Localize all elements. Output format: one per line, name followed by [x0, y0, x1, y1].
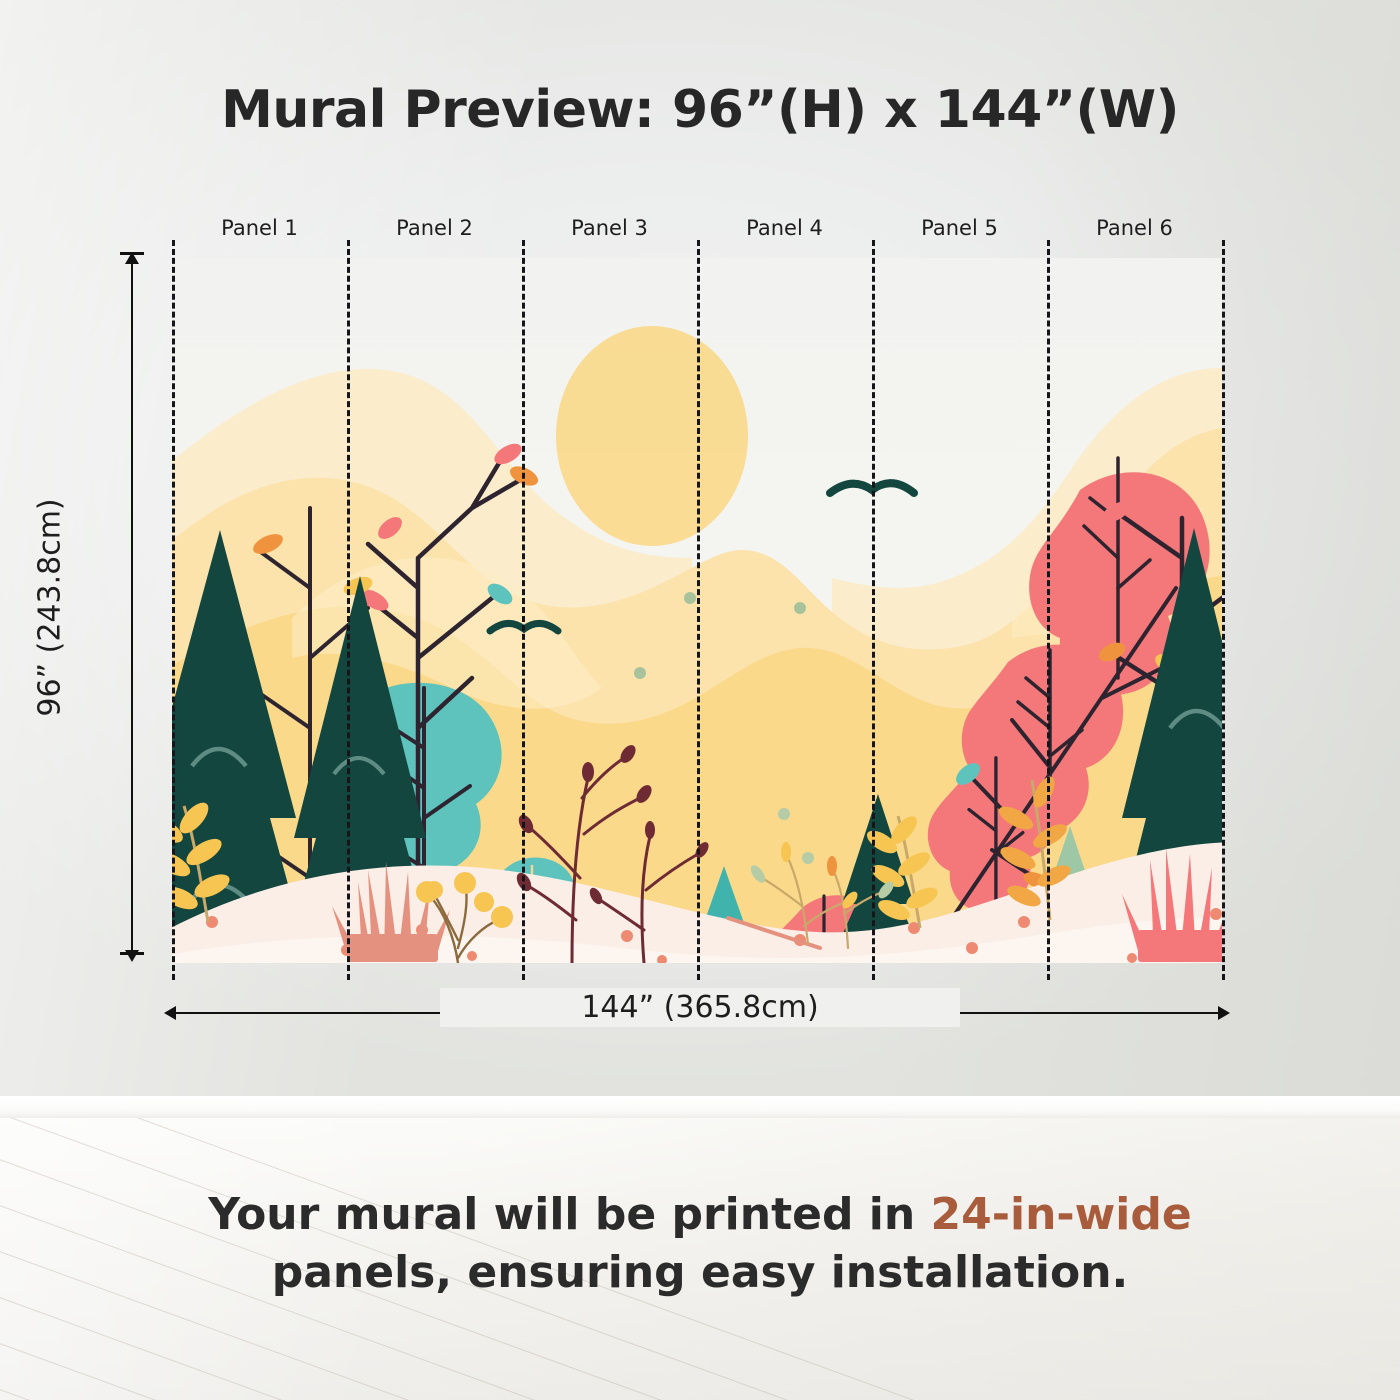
panel-divider-1 — [347, 240, 350, 980]
panel-divider-6 — [1222, 240, 1225, 980]
arrow-head-up-icon — [125, 252, 139, 264]
panel-label-3: Panel 3 — [522, 216, 697, 240]
panel-label-5: Panel 5 — [872, 216, 1047, 240]
panel-label-6: Panel 6 — [1047, 216, 1222, 240]
arrow-head-down-icon — [125, 950, 139, 962]
width-dimension-label: 144” (365.8cm) — [440, 988, 960, 1027]
height-dimension-arrow — [131, 262, 133, 952]
panel-label-2: Panel 2 — [347, 216, 522, 240]
arrow-head-left-icon — [164, 1006, 176, 1020]
panel-divider-0 — [172, 240, 175, 980]
panel-label-4: Panel 4 — [697, 216, 872, 240]
caption-lead: Your mural will be printed in — [208, 1189, 930, 1240]
panel-label-1: Panel 1 — [172, 216, 347, 240]
panel-divider-4 — [872, 240, 875, 980]
panel-divider-5 — [1047, 240, 1050, 980]
height-dimension-label: 96” (243.8cm) — [33, 398, 68, 818]
baseboard — [0, 1096, 1400, 1120]
panel-divider-2 — [522, 240, 525, 980]
arrow-head-right-icon — [1218, 1006, 1230, 1020]
page-title: Mural Preview: 96”(H) x 144”(W) — [0, 80, 1400, 140]
caption-highlight: 24-in-wide — [931, 1189, 1192, 1240]
panel-divider-3 — [697, 240, 700, 980]
caption-line2: panels, ensuring easy installation. — [272, 1247, 1129, 1298]
print-info-caption: Your mural will be printed in 24-in-wide… — [90, 1186, 1310, 1302]
